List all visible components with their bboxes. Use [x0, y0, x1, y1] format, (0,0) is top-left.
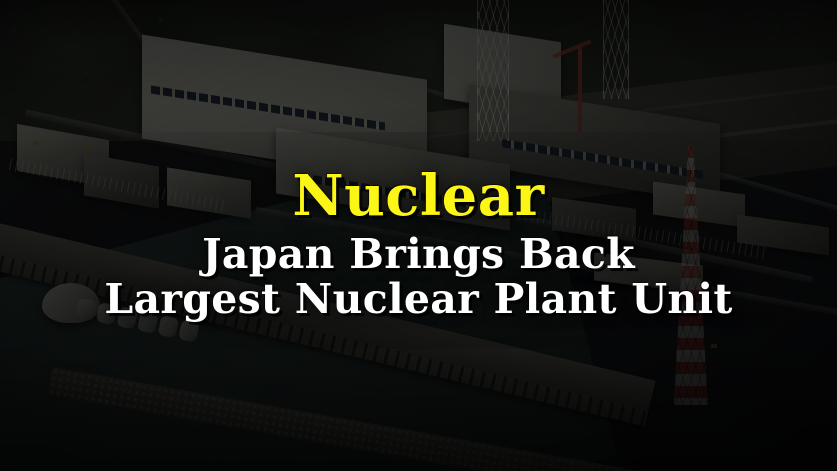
- headline-line-2: Largest Nuclear Plant Unit: [104, 277, 732, 321]
- video-thumbnail-card: Nuclear Japan Brings Back Largest Nuclea…: [0, 0, 837, 471]
- headline: Japan Brings Back Largest Nuclear Plant …: [104, 232, 732, 322]
- thumbnail-text-overlay: Nuclear Japan Brings Back Largest Nuclea…: [0, 0, 837, 471]
- category-kicker: Nuclear: [292, 168, 544, 224]
- headline-line-1: Japan Brings Back: [104, 232, 732, 276]
